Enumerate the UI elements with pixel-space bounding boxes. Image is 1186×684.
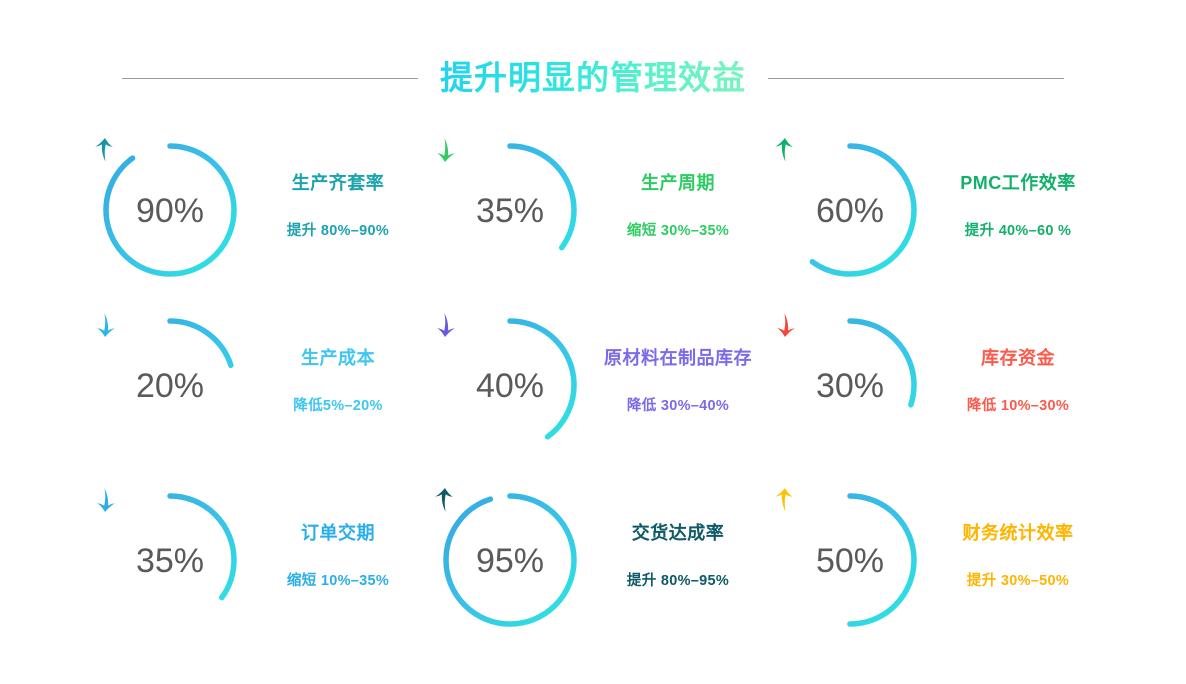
progress-ring: 95%: [434, 484, 586, 636]
metric-title: 生产齐套率: [292, 173, 385, 195]
ring-center: 90%: [94, 134, 246, 286]
metric-text: 订单交期缩短 10%–35%: [246, 523, 434, 590]
metric-text: 交货达成率提升 80%–95%: [586, 523, 774, 590]
metric-subtitle: 降低5%–20%: [293, 394, 382, 415]
page-header: 提升明显的管理效益: [0, 52, 1186, 104]
metric-subtitle: 提升 30%–50%: [967, 569, 1069, 590]
progress-ring: 30%: [774, 309, 926, 461]
ring-center: 30%: [774, 309, 926, 461]
ring-center: 20%: [94, 309, 246, 461]
progress-ring: 50%: [774, 484, 926, 636]
metric-title: PMC工作效率: [960, 173, 1076, 195]
metric-text: 生产成本降低5%–20%: [246, 348, 434, 415]
metric-title: 库存资金: [981, 348, 1055, 370]
arrow-up-icon: [774, 137, 796, 163]
arrow-down-icon: [434, 137, 456, 163]
ring-center: 40%: [434, 309, 586, 461]
progress-ring: 20%: [94, 309, 246, 461]
ring-percent-label: 50%: [816, 544, 884, 578]
ring-center: 60%: [774, 134, 926, 286]
arrow-up-icon: [434, 487, 456, 513]
title-rule-right: [768, 78, 1064, 79]
metric-text: 原材料在制品库存降低 30%–40%: [586, 348, 774, 415]
metrics-grid: 90%生产齐套率提升 80%–90%35%生产周期缩短 30%–35%60%PM…: [94, 122, 1094, 647]
ring-percent-label: 90%: [136, 194, 204, 228]
ring-percent-label: 35%: [136, 544, 204, 578]
ring-center: 50%: [774, 484, 926, 636]
ring-percent-label: 30%: [816, 369, 884, 403]
progress-ring: 40%: [434, 309, 586, 461]
arrow-down-icon: [94, 312, 116, 338]
metric-subtitle: 缩短 30%–35%: [627, 219, 729, 240]
title-rule-left: [122, 78, 418, 79]
ring-percent-label: 35%: [476, 194, 544, 228]
metric-card: 20%生产成本降低5%–20%: [94, 297, 434, 472]
progress-ring: 60%: [774, 134, 926, 286]
progress-ring: 35%: [434, 134, 586, 286]
arrow-down-icon: [774, 312, 796, 338]
metric-title: 财务统计效率: [963, 523, 1074, 545]
ring-percent-label: 60%: [816, 194, 884, 228]
arrow-up-icon: [774, 487, 796, 513]
metric-title: 生产周期: [641, 173, 715, 195]
metric-title: 订单交期: [301, 523, 375, 545]
metric-subtitle: 提升 80%–90%: [287, 219, 389, 240]
metric-title: 交货达成率: [632, 523, 725, 545]
metric-text: 财务统计效率提升 30%–50%: [926, 523, 1114, 590]
ring-center: 35%: [434, 134, 586, 286]
metric-card: 95%交货达成率提升 80%–95%: [434, 472, 774, 647]
metric-text: 库存资金降低 10%–30%: [926, 348, 1114, 415]
page-title: 提升明显的管理效益: [440, 61, 746, 96]
ring-percent-label: 40%: [476, 369, 544, 403]
metric-title: 原材料在制品库存: [604, 348, 752, 370]
ring-percent-label: 95%: [476, 544, 544, 578]
metric-text: PMC工作效率提升 40%–60 %: [926, 173, 1114, 240]
metric-subtitle: 提升 40%–60 %: [965, 219, 1071, 240]
metric-card: 50%财务统计效率提升 30%–50%: [774, 472, 1114, 647]
ring-center: 95%: [434, 484, 586, 636]
metric-subtitle: 降低 30%–40%: [627, 394, 729, 415]
metric-title: 生产成本: [301, 348, 375, 370]
metric-card: 30%库存资金降低 10%–30%: [774, 297, 1114, 472]
metric-subtitle: 提升 80%–95%: [627, 569, 729, 590]
metric-card: 35%生产周期缩短 30%–35%: [434, 122, 774, 297]
metric-subtitle: 降低 10%–30%: [967, 394, 1069, 415]
metric-card: 60%PMC工作效率提升 40%–60 %: [774, 122, 1114, 297]
ring-percent-label: 20%: [136, 369, 204, 403]
metric-text: 生产齐套率提升 80%–90%: [246, 173, 434, 240]
metric-subtitle: 缩短 10%–35%: [287, 569, 389, 590]
metric-card: 40%原材料在制品库存降低 30%–40%: [434, 297, 774, 472]
progress-ring: 90%: [94, 134, 246, 286]
ring-center: 35%: [94, 484, 246, 636]
metric-card: 35%订单交期缩短 10%–35%: [94, 472, 434, 647]
arrow-up-icon: [94, 137, 116, 163]
metric-text: 生产周期缩短 30%–35%: [586, 173, 774, 240]
progress-ring: 35%: [94, 484, 246, 636]
metric-card: 90%生产齐套率提升 80%–90%: [94, 122, 434, 297]
arrow-down-icon: [434, 312, 456, 338]
arrow-down-icon: [94, 487, 116, 513]
